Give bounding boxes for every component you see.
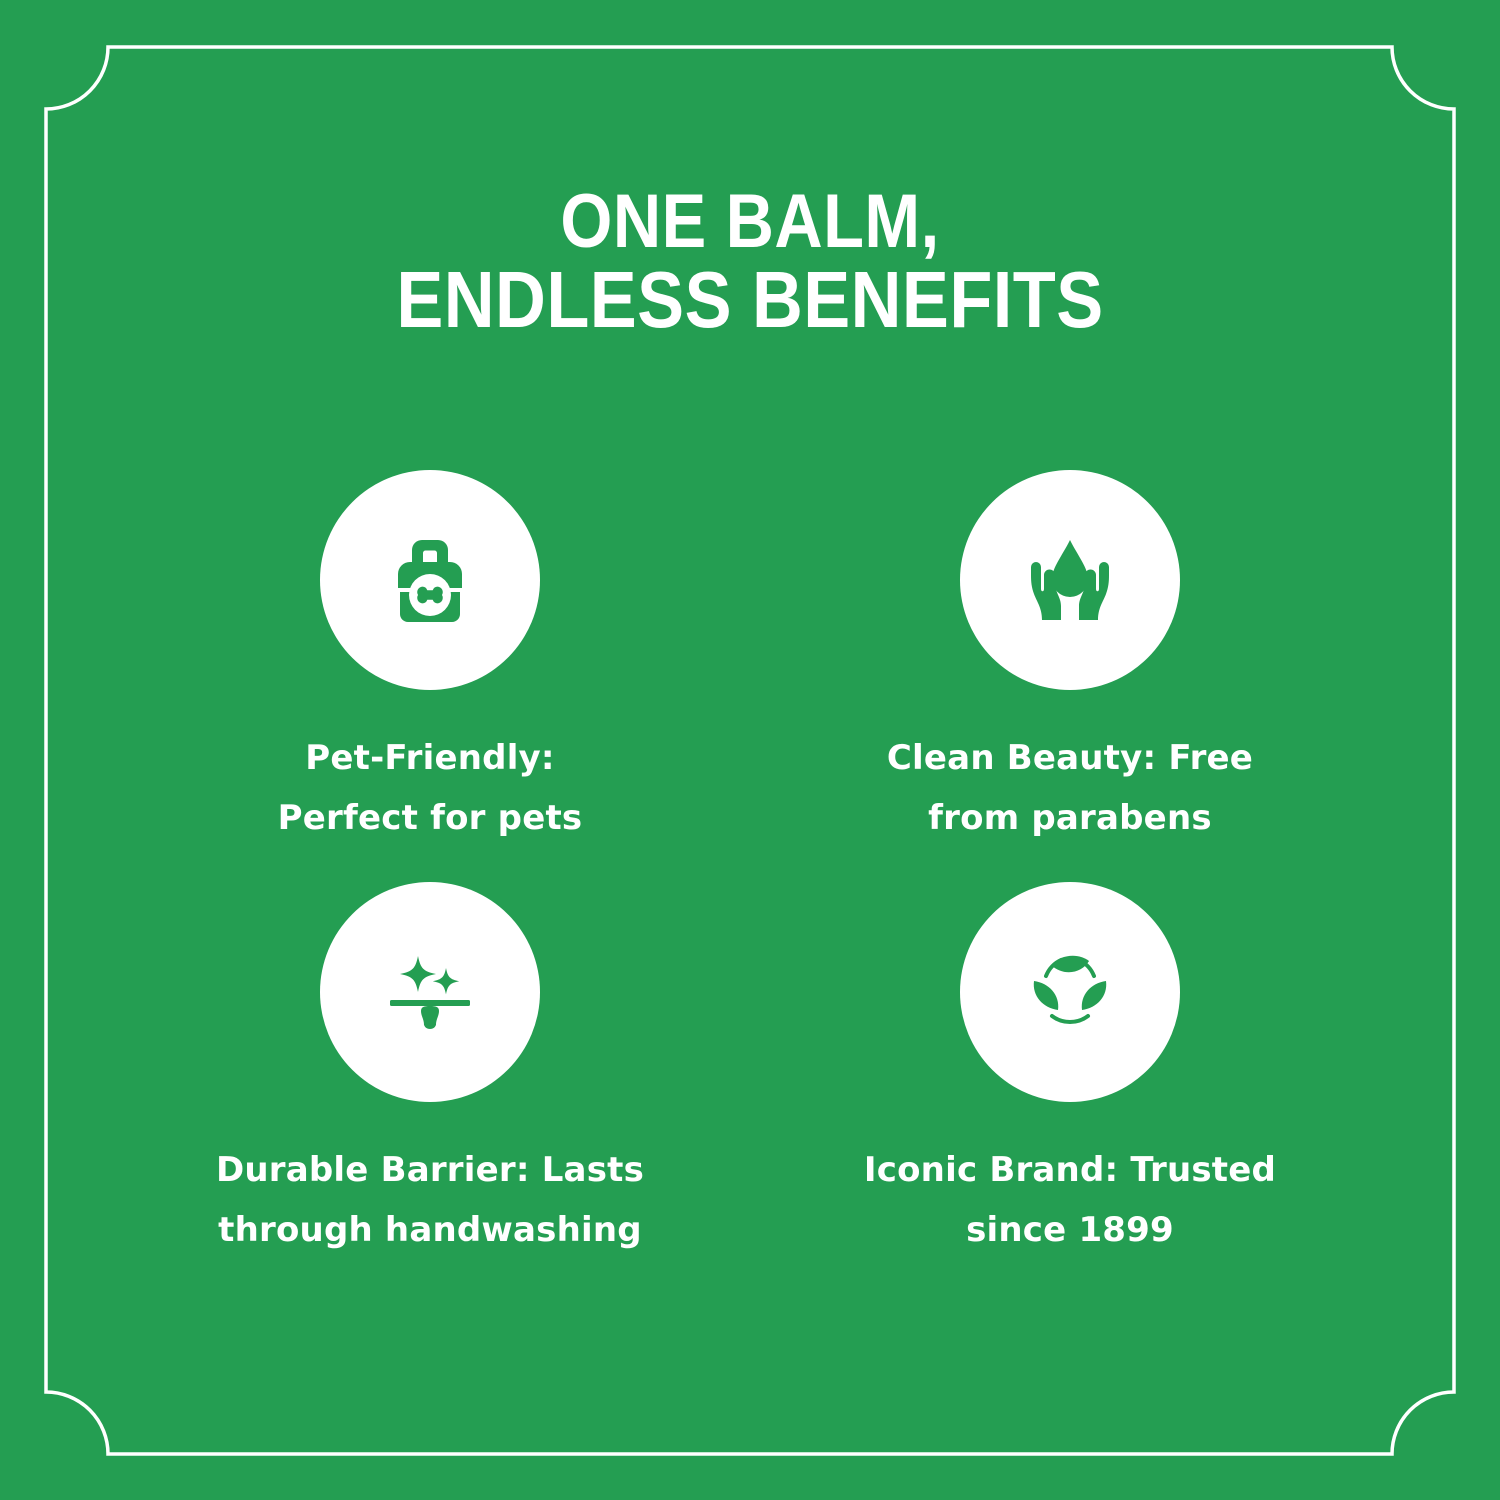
promotional-graphic: ONE BALM, ENDLESS BENEFITS [0, 0, 1500, 1500]
benefit-caption-iconic-brand: Iconic Brand: Trusted since 1899 [864, 1140, 1276, 1260]
headline: ONE BALM, ENDLESS BENEFITS [0, 183, 1500, 339]
hands-holding-droplet-icon [1006, 516, 1134, 644]
caption-line-1: Pet-Friendly: [278, 728, 583, 788]
caption-line-1: Iconic Brand: Trusted [864, 1140, 1276, 1200]
caption-line-2: since 1899 [864, 1200, 1276, 1260]
icon-badge-clean-beauty [960, 470, 1180, 690]
benefit-item-iconic-brand: Iconic Brand: Trusted since 1899 [775, 882, 1365, 1260]
recycling-leaves-icon [1006, 928, 1134, 1056]
caption-line-1: Clean Beauty: Free [887, 728, 1253, 788]
caption-line-2: Perfect for pets [278, 788, 583, 848]
benefit-item-pet-friendly: Pet-Friendly: Perfect for pets [135, 470, 725, 848]
caption-line-1: Durable Barrier: Lasts [216, 1140, 644, 1200]
benefit-caption-pet-friendly: Pet-Friendly: Perfect for pets [278, 728, 583, 848]
headline-line-1: ONE BALM, [90, 183, 1410, 261]
benefit-caption-durable-barrier: Durable Barrier: Lasts through handwashi… [216, 1140, 644, 1260]
benefits-grid: Pet-Friendly: Perfect for pets [135, 470, 1365, 1260]
benefit-item-clean-beauty: Clean Beauty: Free from parabens [775, 470, 1365, 848]
icon-badge-pet-friendly [320, 470, 540, 690]
icon-badge-durable-barrier [320, 882, 540, 1102]
icon-badge-iconic-brand [960, 882, 1180, 1102]
barrier-sparkle-droplet-icon [366, 928, 494, 1056]
headline-line-2: ENDLESS BENEFITS [90, 261, 1410, 339]
pet-first-aid-kit-icon [366, 516, 494, 644]
caption-line-2: through handwashing [216, 1200, 644, 1260]
caption-line-2: from parabens [887, 788, 1253, 848]
benefit-item-durable-barrier: Durable Barrier: Lasts through handwashi… [135, 882, 725, 1260]
benefit-caption-clean-beauty: Clean Beauty: Free from parabens [887, 728, 1253, 848]
